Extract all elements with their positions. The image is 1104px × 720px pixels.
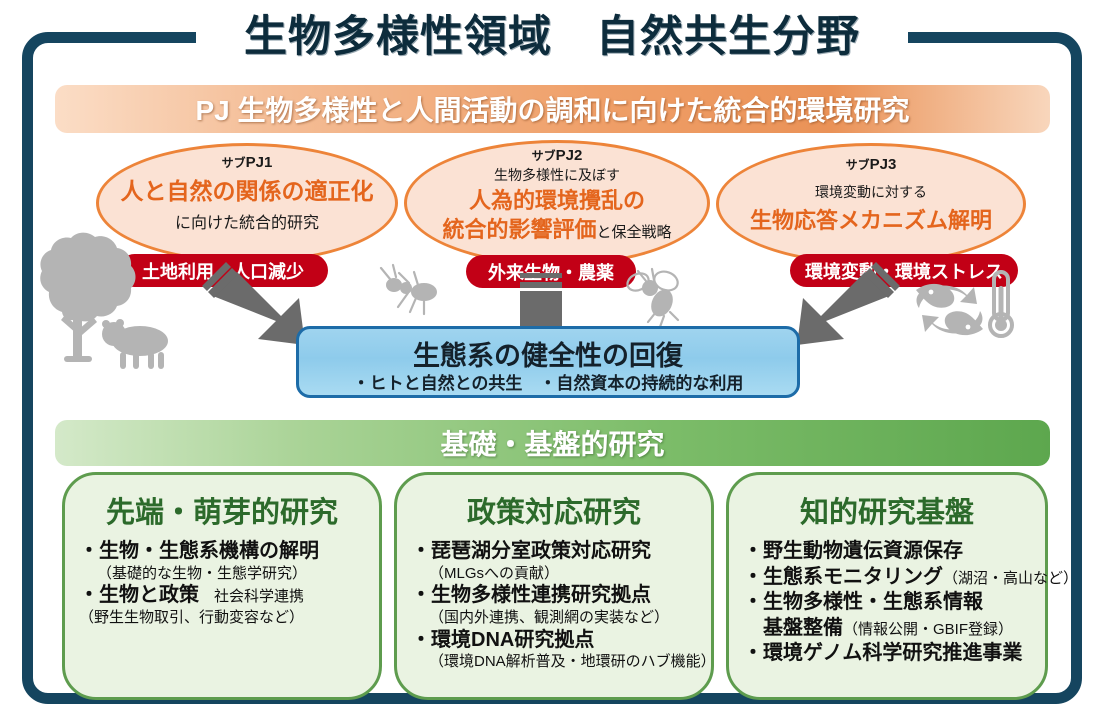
- card-line: ・生物多様性連携研究拠点: [411, 583, 699, 609]
- green-card-infrastructure-body: ・野生動物遺伝資源保存・生態系モニタリング（湖沼・高山など）・生物多様性・生態系…: [743, 539, 1033, 667]
- green-card-infrastructure-title: 知的研究基盤: [729, 489, 1045, 531]
- card-line-note: （湖沼・高山など）: [943, 570, 1078, 587]
- card-line: 基盤整備（情報公開・GBIF登録）: [743, 616, 1033, 642]
- card-line: ・琵琶湖分室政策対応研究: [411, 539, 699, 565]
- card-line-bold: 基盤整備: [743, 617, 843, 639]
- card-line: （国内外連携、観測網の実装など）: [411, 609, 699, 628]
- center-outcome-subtitle: ・ヒトと自然との共生 ・自然資本の持続的な利用: [299, 369, 797, 394]
- sub-pj-2-lead: 生物多様性に及ぼす: [407, 167, 707, 184]
- card-line-bold: ・生物と政策: [79, 584, 199, 606]
- card-line-note: 社会科学連携: [199, 588, 304, 605]
- sub-pj-1-ellipse: サブPJ1 人と自然の関係の適正化 に向けた統合的研究: [96, 143, 398, 263]
- card-line: ・生物多様性・生態系情報: [743, 590, 1033, 616]
- sub-pj-3-highlight: 生物応答メカニズム解明: [719, 208, 1023, 233]
- foundation-banner: 基礎・基盤的研究: [55, 420, 1050, 466]
- green-card-advanced-body: ・生物・生態系機構の解明（基礎的な生物・生態学研究）・生物と政策 社会科学連携（…: [79, 539, 367, 628]
- card-line: （基礎的な生物・生態学研究）: [79, 565, 367, 584]
- card-line: （野生生物取引、行動変容など）: [79, 609, 367, 628]
- sub-pj-2-tail: と保全戦略: [597, 224, 672, 241]
- card-line: ・環境DNA研究拠点: [411, 628, 699, 654]
- sub-pj-2-highlight: 人為的環境攪乱の: [407, 188, 707, 213]
- page-title: 生物多様性領域 自然共生分野: [0, 2, 1104, 64]
- diagram-canvas: 生物多様性領域 自然共生分野 PJ 生物多様性と人間活動の調和に向けた統合的環境…: [0, 0, 1104, 720]
- green-card-infrastructure: 知的研究基盤 ・野生動物遺伝資源保存・生態系モニタリング（湖沼・高山など）・生物…: [726, 472, 1048, 700]
- sub-pj-3-ellipse: サブPJ3 環境変動に対する 生物応答メカニズム解明: [716, 143, 1026, 265]
- card-line-bold: ・生態系モニタリング: [743, 566, 943, 588]
- sub-pj-3-heading: サブPJ3: [719, 156, 1023, 173]
- center-outcome-title: 生態系の健全性の回復: [299, 334, 797, 373]
- green-card-policy-body: ・琵琶湖分室政策対応研究（MLGsへの貢献）・生物多様性連携研究拠点（国内外連携…: [411, 539, 699, 672]
- center-outcome-box: 生態系の健全性の回復 ・ヒトと自然との共生 ・自然資本の持続的な利用: [296, 326, 800, 398]
- green-card-advanced: 先端・萌芽的研究 ・生物・生態系機構の解明（基礎的な生物・生態学研究）・生物と政…: [62, 472, 382, 700]
- card-line: ・環境ゲノム科学研究推進事業: [743, 641, 1033, 667]
- foundation-banner-label: 基礎・基盤的研究: [440, 423, 664, 463]
- pj-banner-label: PJ 生物多様性と人間活動の調和に向けた統合的環境研究: [195, 89, 909, 129]
- sub-pj-1-heading: サブPJ1: [99, 154, 395, 171]
- green-card-policy: 政策対応研究 ・琵琶湖分室政策対応研究（MLGsへの貢献）・生物多様性連携研究拠…: [394, 472, 714, 700]
- pj-banner: PJ 生物多様性と人間活動の調和に向けた統合的環境研究: [55, 85, 1050, 133]
- sub-pj-3-keyword-pill: 環境変動・環境ストレス: [790, 254, 1018, 287]
- card-line: ・生物・生態系機構の解明: [79, 539, 367, 565]
- card-line-note: （情報公開・GBIF登録）: [843, 621, 1013, 638]
- card-line: （MLGsへの貢献）: [411, 565, 699, 584]
- sub-pj-1-highlight: 人と自然の関係の適正化: [99, 179, 395, 205]
- sub-pj-2-heading: サブPJ2: [407, 147, 707, 164]
- sub-pj-2-highlight2: 統合的影響評価: [442, 217, 596, 242]
- sub-pj-1-keyword-pill: 土地利用・人口減少: [118, 254, 328, 287]
- green-card-policy-title: 政策対応研究: [397, 489, 711, 531]
- card-line: ・生物と政策 社会科学連携: [79, 583, 367, 609]
- card-line: ・生態系モニタリング（湖沼・高山など）: [743, 565, 1033, 591]
- card-line: （環境DNA解析普及・地環研のハブ機能）: [411, 653, 699, 672]
- sub-pj-2-keyword-pill: 外来生物・農薬: [466, 255, 636, 288]
- sub-pj-2-highlight-line2: 統合的影響評価と保全戦略: [407, 217, 707, 242]
- green-card-advanced-title: 先端・萌芽的研究: [65, 489, 379, 531]
- sub-pj-2-ellipse: サブPJ2 生物多様性に及ぼす 人為的環境攪乱の 統合的影響評価と保全戦略: [404, 140, 710, 266]
- sub-pj-3-lead: 環境変動に対する: [719, 184, 1023, 201]
- card-line: ・野生動物遺伝資源保存: [743, 539, 1033, 565]
- sub-pj-1-tail: に向けた統合的研究: [99, 214, 395, 233]
